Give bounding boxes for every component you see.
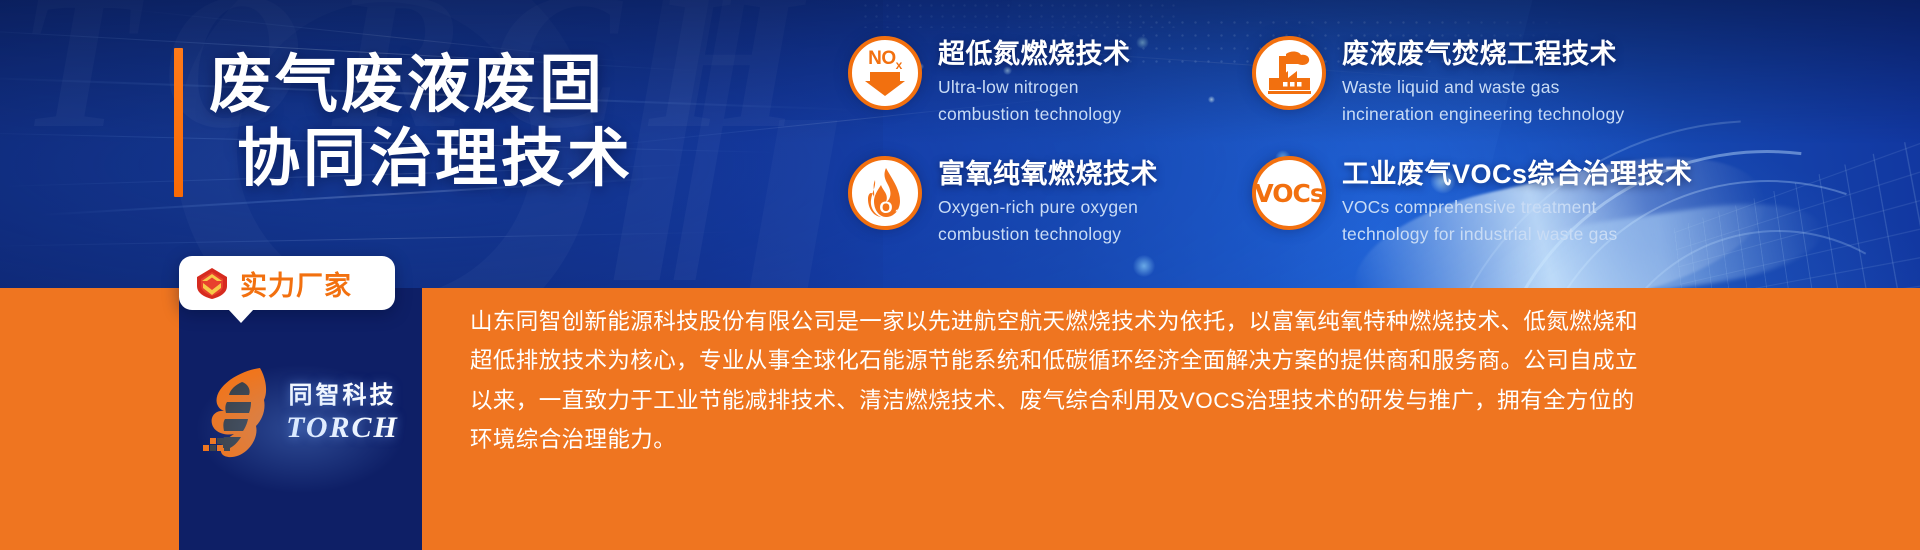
company-logo-panel[interactable]: 同智科技 TORCH (179, 288, 422, 550)
down-arrow-icon (865, 71, 905, 97)
shield-medal-icon (195, 266, 229, 300)
nox-icon-sub: x (896, 57, 902, 71)
flame-icon: O 2 (862, 167, 908, 219)
headline-accent-bar (174, 48, 183, 197)
flame-oxygen-icon: O 2 (848, 156, 922, 230)
feature-subtitle-en-2: combustion technology (938, 223, 1158, 246)
svg-text:O: O (879, 198, 892, 217)
feature-title-cn: 工业废气VOCs综合治理技术 (1342, 158, 1693, 192)
feature-subtitle-en-2: combustion technology (938, 103, 1131, 126)
company-description: 山东同智创新能源科技股份有限公司是一家以先进航空航天燃烧技术为依托，以富氧纯氧特… (470, 302, 1700, 460)
strength-manufacturer-badge[interactable]: 实力厂家 (179, 256, 395, 310)
feature-item-oxygen-rich-combustion[interactable]: O 2 富氧纯氧燃烧技术 Oxygen-rich pure oxygen com… (848, 156, 1252, 246)
promo-banner: TORCH 废气废液废固 协同治理技术 NOx (0, 0, 1920, 550)
feature-title-cn: 超低氮燃烧技术 (938, 38, 1131, 72)
vocs-icon: VOCs (1252, 156, 1326, 230)
torch-flame-icon (202, 364, 280, 462)
factory-smokestack-icon (1266, 51, 1312, 95)
feature-subtitle-en-1: Waste liquid and waste gas (1342, 76, 1624, 99)
feature-list: NOx 超低氮燃烧技术 Ultra-low nitrogen combustio… (848, 36, 1656, 247)
headline-line-2: 协同治理技术 (209, 122, 633, 196)
description-line-3: 以来，一直致力于工业节能减排技术、清洁燃烧技术、废气综合利用及VOCS治理技术的… (470, 381, 1700, 420)
feature-title-cn: 富氧纯氧燃烧技术 (938, 158, 1158, 192)
feature-item-vocs-treatment[interactable]: VOCs 工业废气VOCs综合治理技术 VOCs comprehensive t… (1252, 156, 1656, 246)
feature-title-cn: 废液废气焚烧工程技术 (1342, 38, 1624, 72)
nox-icon: NOx (848, 36, 922, 110)
description-line-2: 超低排放技术为核心，专业从事全球化石能源节能系统和低碳循环经济全面解决方案的提供… (470, 341, 1700, 380)
vocs-icon-label: VOCs (1254, 179, 1323, 208)
logo-company-name-cn: 同智科技 (289, 384, 397, 408)
badge-pointer (228, 309, 254, 323)
svg-text:2: 2 (895, 208, 901, 219)
factory-icon (1252, 36, 1326, 110)
badge-label: 实力厂家 (240, 264, 352, 303)
logo-company-name-en: TORCH (286, 413, 399, 443)
description-line-4: 环境综合治理能力。 (470, 420, 1700, 459)
feature-item-ultra-low-nitrogen[interactable]: NOx 超低氮燃烧技术 Ultra-low nitrogen combustio… (848, 36, 1252, 126)
feature-subtitle-en-1: Oxygen-rich pure oxygen (938, 196, 1158, 219)
feature-subtitle-en-2: incineration engineering technology (1342, 103, 1624, 126)
headline-line-1: 废气废液废固 (209, 48, 633, 122)
feature-subtitle-en-1: VOCs comprehensive treatment (1342, 196, 1693, 219)
description-line-1: 山东同智创新能源科技股份有限公司是一家以先进航空航天燃烧技术为依托，以富氧纯氧特… (470, 302, 1700, 341)
feature-subtitle-en-2: technology for industrial waste gas (1342, 223, 1693, 246)
feature-item-waste-incineration[interactable]: 废液废气焚烧工程技术 Waste liquid and waste gas in… (1252, 36, 1656, 126)
nox-icon-label: NO (868, 48, 896, 69)
feature-subtitle-en-1: Ultra-low nitrogen (938, 76, 1131, 99)
headline: 废气废液废固 协同治理技术 (174, 48, 633, 197)
